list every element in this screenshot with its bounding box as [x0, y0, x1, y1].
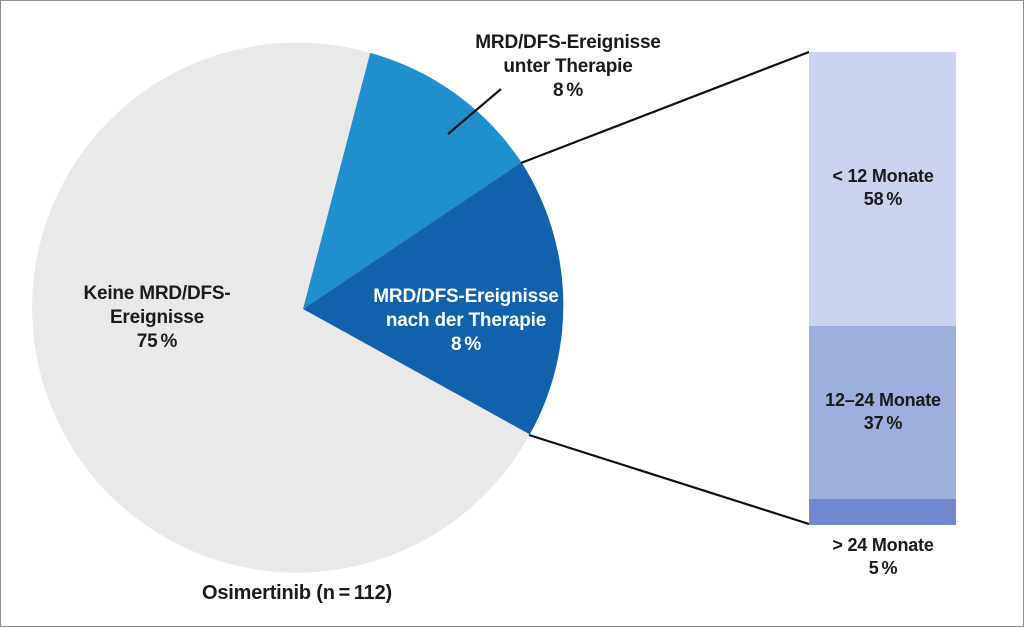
pie-label-unter-line2: unter Therapie — [387, 55, 749, 79]
bar-label-gt24: > 24 Monate 5% — [801, 534, 965, 579]
pie-label-unter-therapie: MRD/DFS-Ereignisse unter Therapie 8% — [387, 31, 749, 103]
leader-line-explode-bottom — [529, 435, 809, 524]
bar-label-12-24-text: 12–24 Monate — [801, 389, 965, 412]
pie-label-keine-line2: Ereignisse — [29, 306, 285, 330]
pie-value-unter: 8% — [387, 79, 749, 103]
bar-label-lt12: < 12 Monate 58% — [809, 165, 957, 210]
pie-value-nach: 8% — [337, 333, 595, 357]
bar-value-12-24: 37% — [801, 412, 965, 435]
pie-label-keine-ereignisse: Keine MRD/DFS- Ereignisse 75% — [29, 282, 285, 354]
pie-label-nach-line2: nach der Therapie — [337, 309, 595, 333]
bar-value-gt24: 5% — [801, 557, 965, 580]
pie-label-unter-line1: MRD/DFS-Ereignisse — [387, 31, 749, 55]
chart-caption: Osimertinib (n = 112) — [97, 581, 497, 606]
pie-label-keine-line1: Keine MRD/DFS- — [29, 282, 285, 306]
bar-label-12-24: 12–24 Monate 37% — [801, 389, 965, 434]
bar-label-gt24-text: > 24 Monate — [801, 534, 965, 557]
pie-value-keine: 75% — [29, 330, 285, 354]
bar-label-lt12-text: < 12 Monate — [809, 165, 957, 188]
bar-segment-gt24 — [809, 499, 956, 525]
pie-label-nach-therapie: MRD/DFS-Ereignisse nach der Therapie 8% — [337, 285, 595, 357]
chart-figure: MRD/DFS-Ereignisse unter Therapie 8% Kei… — [0, 0, 1024, 627]
pie-label-nach-line1: MRD/DFS-Ereignisse — [337, 285, 595, 309]
bar-value-lt12: 58% — [809, 188, 957, 211]
